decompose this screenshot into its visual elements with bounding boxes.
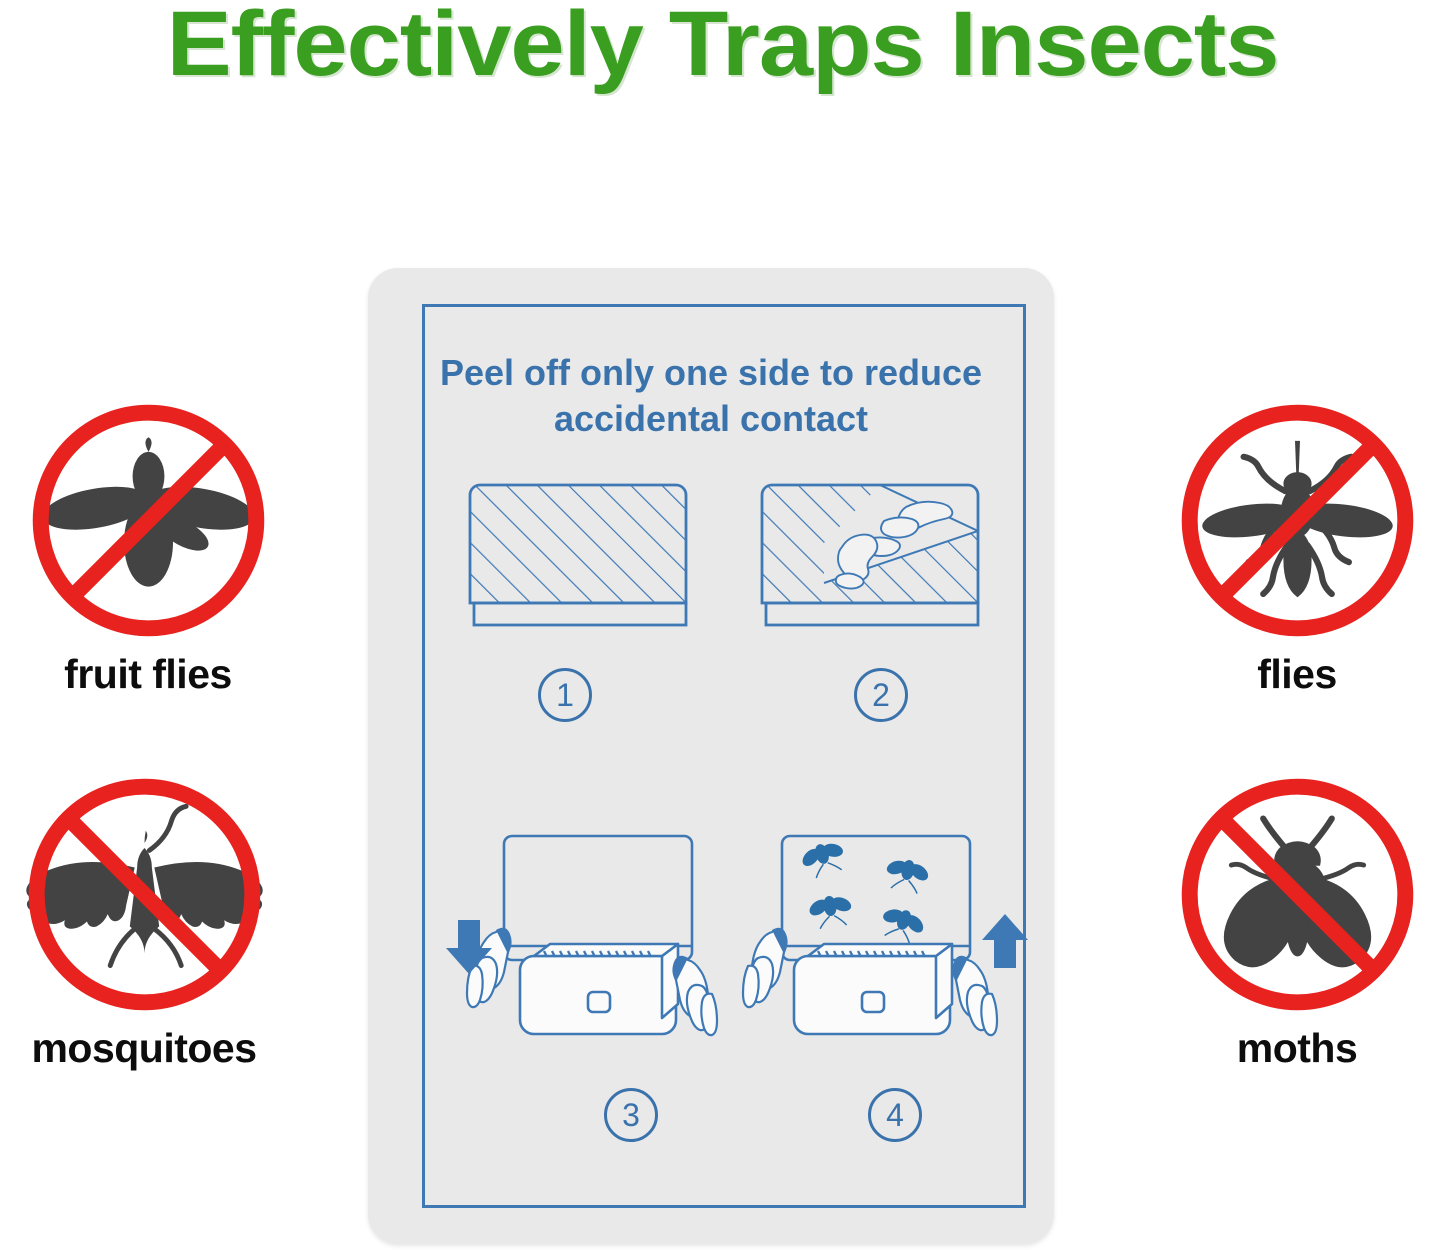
trapped-insects xyxy=(796,837,933,948)
badge-mosquitoes: mosquitoes xyxy=(4,772,284,1071)
step-3-illustration xyxy=(444,808,740,1056)
step-number-2: 2 xyxy=(854,668,908,722)
badge-label-fruit-flies: fruit flies xyxy=(8,651,288,697)
no-moth-icon xyxy=(1175,772,1420,1017)
no-mosquito-icon xyxy=(22,772,267,1017)
page-title: Effectively Traps Insects xyxy=(0,0,1445,96)
step-1-illustration xyxy=(472,483,690,638)
step-4-illustration xyxy=(746,808,1042,1056)
arrow-up-icon xyxy=(982,914,1028,968)
badge-label-mosquitoes: mosquitoes xyxy=(4,1025,284,1071)
badge-fruit-flies: fruit flies xyxy=(8,398,288,697)
instruction-card: Peel off only one side to reduce acciden… xyxy=(368,268,1054,1244)
card-heading: Peel off only one side to reduce acciden… xyxy=(428,350,994,442)
no-fruit-fly-icon xyxy=(26,398,271,643)
no-fly-icon xyxy=(1175,398,1420,643)
step-2-illustration xyxy=(764,483,982,638)
badge-moths: moths xyxy=(1157,772,1437,1071)
badge-flies: flies xyxy=(1157,398,1437,697)
badge-label-flies: flies xyxy=(1157,651,1437,697)
step-number-4: 4 xyxy=(868,1088,922,1142)
step-number-1: 1 xyxy=(538,668,592,722)
step-number-3: 3 xyxy=(604,1088,658,1142)
badge-label-moths: moths xyxy=(1157,1025,1437,1071)
